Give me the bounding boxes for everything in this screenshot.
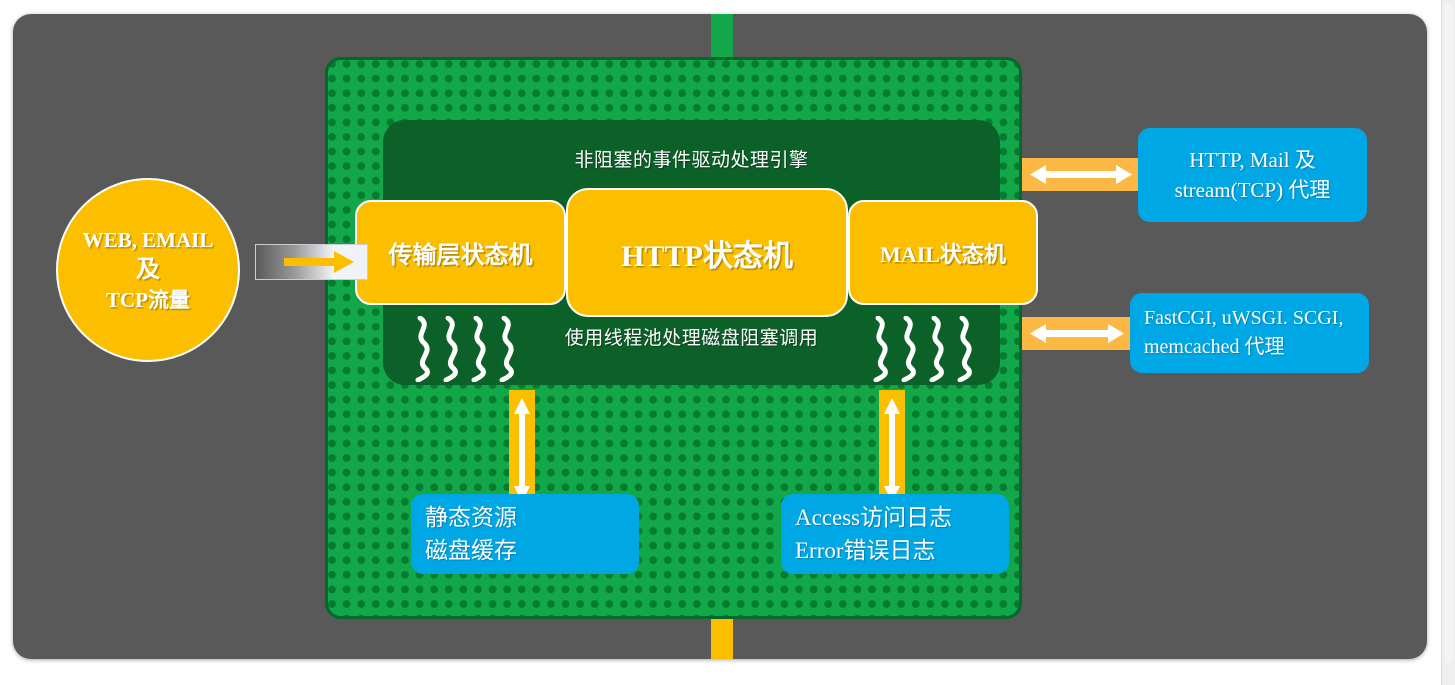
upstream-protocols-arrow <box>1022 317 1132 350</box>
upstream-protocols-line2: memcached 代理 <box>1144 333 1285 362</box>
proxy-protocols-line2: stream(TCP) 代理 <box>1175 175 1331 205</box>
scrollbar-thumb[interactable] <box>1445 3 1453 663</box>
static-cache-arrow <box>509 390 535 510</box>
static-cache-box[interactable]: 静态资源 磁盘缓存 <box>411 494 639 574</box>
traffic-source-circle[interactable]: WEB, EMAIL 及 TCP流量 <box>56 178 240 362</box>
top-green-connector <box>711 14 733 61</box>
thread-pool-squiggles-right <box>872 316 984 382</box>
arrow-left-right-icon <box>1022 158 1140 191</box>
state-machine-transport[interactable]: 传输层状态机 <box>355 200 566 305</box>
logs-line2: Error错误日志 <box>795 534 936 567</box>
arrow-right-icon <box>256 245 367 279</box>
arrow-up-down-icon <box>879 390 905 510</box>
static-cache-line1: 静态资源 <box>425 501 517 534</box>
logs-arrow <box>879 390 905 510</box>
state-machine-http[interactable]: HTTP状态机 <box>566 188 848 317</box>
static-cache-line2: 磁盘缓存 <box>425 534 517 567</box>
proxy-protocols-arrow <box>1022 158 1140 191</box>
bottom-orange-connector <box>711 615 733 659</box>
arrow-left-right-icon <box>1022 317 1132 350</box>
traffic-source-line3: TCP流量 <box>106 285 190 315</box>
state-machine-mail[interactable]: MAIL状态机 <box>848 200 1038 305</box>
proxy-protocols-box[interactable]: HTTP, Mail 及 stream(TCP) 代理 <box>1138 128 1367 222</box>
upstream-protocols-line1: FastCGI, uWSGI. SCGI, <box>1144 304 1343 333</box>
inbound-traffic-arrow <box>255 244 368 280</box>
logs-line1: Access访问日志 <box>795 501 952 534</box>
upstream-protocols-box[interactable]: FastCGI, uWSGI. SCGI, memcached 代理 <box>1130 293 1369 373</box>
arrow-up-down-icon <box>509 390 535 510</box>
diagram-canvas: 非阻塞的事件驱动处理引擎 使用线程池处理磁盘阻塞调用 传输层状态机 HTTP状态… <box>0 0 1455 685</box>
traffic-source-line1: WEB, EMAIL <box>83 225 214 255</box>
thread-pool-squiggles-left <box>414 316 526 382</box>
proxy-protocols-line1: HTTP, Mail 及 <box>1189 145 1316 175</box>
traffic-source-line2: 及 <box>136 255 160 285</box>
logs-box[interactable]: Access访问日志 Error错误日志 <box>781 494 1009 574</box>
engine-title: 非阻塞的事件驱动处理引擎 <box>383 145 1000 172</box>
page-scrollbar[interactable] <box>1441 0 1455 685</box>
